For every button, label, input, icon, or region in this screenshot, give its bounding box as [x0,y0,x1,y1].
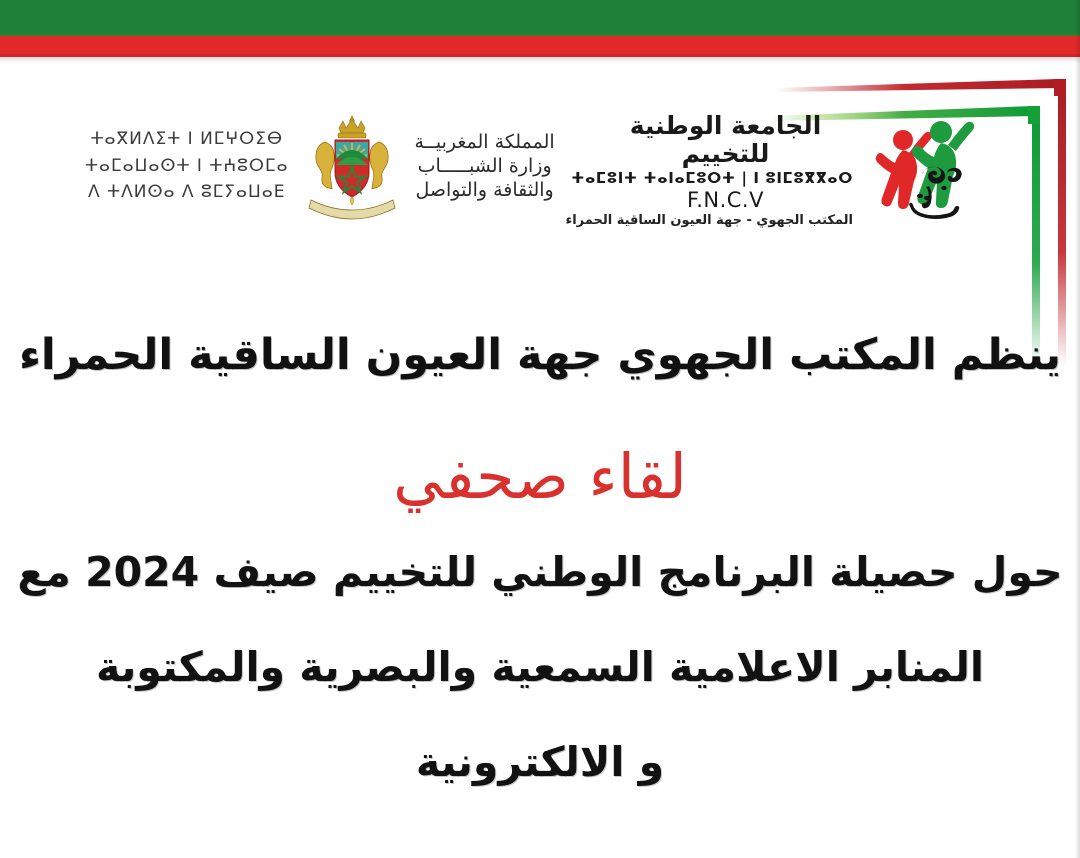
flag-bar-red [0,36,1080,57]
event-type-label: لقاء صحفي [0,440,1080,513]
ministry-tifinagh-text: ⵜⴰⴳⵍⴷⵉⵜ ⵏ ⵍⵎⵖⵔⵉⴱ ⵜⴰⵎⴰⵡⴰⵙⵜ ⵏ ⵜⵄⵓⵔⵎⴰ ⴷ ⵜⴷⵍ… [85,126,289,205]
header-logo-row: ⵜⴰⴳⵍⴷⵉⵜ ⵏ ⵍⵎⵖⵔⵉⴱ ⵜⴰⵎⴰⵡⴰⵙⵜ ⵏ ⵜⵄⵓⵔⵎⴰ ⴷ ⵜⴷⵍ… [0,96,1080,246]
ministry-tifinagh-line-2: ⵜⴰⵎⴰⵡⴰⵙⵜ ⵏ ⵜⵄⵓⵔⵎⴰ [85,153,289,179]
ministry-tifinagh-line-3: ⴷ ⵜⴷⵍⵙⴰ ⴷ ⵓⵎⵢⴰⵡⴰⴹ [85,179,289,205]
event-description-line-3: و الالكترونية [0,742,1080,783]
two-jumping-figures-logo-icon [862,112,994,228]
moroccan-coat-of-arms-icon [303,112,401,220]
ministry-arabic-line-3: والثقافة والتواصل [415,178,555,202]
fncv-abbreviation: F.N.C.V [598,188,853,212]
ministry-arabic-line-1: المملكة المغربيــة [415,130,555,154]
page-title: ينظم المكتب الجهوي جهة العيون الساقية ال… [0,330,1080,380]
top-bar-shadow [0,57,1080,63]
fncv-logo: الجامعة الوطنية للتخييم ⵜⴰⵎⵓⵏⵜ ⵜⴰⵏⴰⵎⵓⵔⵜ … [598,112,853,228]
ministry-arabic-line-2: وزارة الشبـــــاب [415,154,555,178]
ministry-logo: ⵜⴰⴳⵍⴷⵉⵜ ⵏ ⵍⵎⵖⵔⵉⴱ ⵜⴰⵎⴰⵡⴰⵙⵜ ⵏ ⵜⵄⵓⵔⵎⴰ ⴷ ⵜⴷⵍ… [85,112,555,220]
fncv-tifinagh-name: ⵜⴰⵎⵓⵏⵜ ⵜⴰⵏⴰⵎⵓⵔⵜ | ⵏ ⵓⵏⵎⵓⴳⴳⴰⵔ [598,169,853,187]
fncv-regional-subtitle: المكتب الجهوي - جهة العيون الساقية الحمر… [598,213,853,228]
event-description: حول حصيلة البرنامج الوطني للتخييم صيف 20… [0,552,1080,783]
event-description-line-2: المنابر الاعلامية السمعية والبصرية والمك… [0,647,1080,688]
ministry-arabic-text: المملكة المغربيــة وزارة الشبـــــاب وال… [415,130,555,203]
event-description-line-1: حول حصيلة البرنامج الوطني للتخييم صيف 20… [0,552,1080,593]
fncv-arabic-name: الجامعة الوطنية للتخييم [598,112,853,168]
flag-bar-green [0,0,1080,36]
poster-canvas: ⵜⴰⴳⵍⴷⵉⵜ ⵏ ⵍⵎⵖⵔⵉⴱ ⵜⴰⵎⴰⵡⴰⵙⵜ ⵏ ⵜⵄⵓⵔⵎⴰ ⴷ ⵜⴷⵍ… [0,0,1080,858]
ministry-tifinagh-line-1: ⵜⴰⴳⵍⴷⵉⵜ ⵏ ⵍⵎⵖⵔⵉⴱ [85,126,289,152]
